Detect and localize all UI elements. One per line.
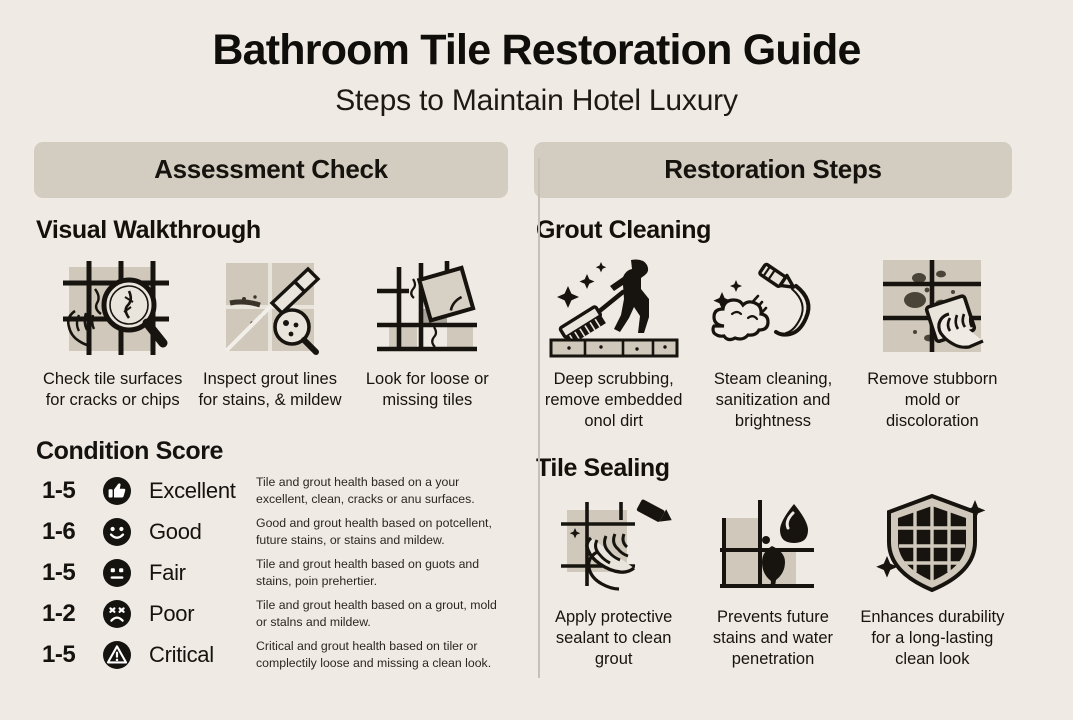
score-row-critical: 1-5 Critical Critical and grout health b… bbox=[34, 634, 506, 675]
assessment-check-column: Assessment Check Visual Walkthrough bbox=[0, 142, 506, 675]
score-row-fair: 1-5 Fair Tile and grout health based on … bbox=[34, 552, 506, 593]
page-subtitle: Steps to Maintain Hotel Luxury bbox=[0, 84, 1073, 118]
assessment-check-pill: Assessment Check bbox=[34, 142, 508, 198]
condition-score-table: 1-5 Excellent Tile and grout health base… bbox=[34, 470, 506, 675]
grout-cleaning-heading: Grout Cleaning bbox=[536, 216, 1012, 245]
card-check-tile-surfaces: Check tile surfaces for cracks or chips bbox=[34, 251, 191, 411]
card-caption: Apply protective sealant to clean grout bbox=[534, 601, 693, 670]
card-caption: Check tile surfaces for cracks or chips bbox=[34, 363, 191, 411]
card-caption: Deep scrubbing, remove embedded onol dir… bbox=[534, 363, 693, 432]
score-range: 1-5 bbox=[34, 477, 96, 505]
sealant-hand-wipe-icon bbox=[534, 489, 693, 601]
grout-cleaning-cards: Deep scrubbing, remove embedded onol dir… bbox=[534, 251, 1012, 432]
score-label: Fair bbox=[138, 560, 256, 586]
card-caption: Enhances durability for a long-lasting c… bbox=[853, 601, 1012, 670]
restoration-steps-column: Restoration Steps Grout Cleaning bbox=[506, 142, 1012, 675]
shield-tile-icon bbox=[853, 489, 1012, 601]
card-enhances-durability: Enhances durability for a long-lasting c… bbox=[853, 489, 1012, 670]
tile-sealing-heading: Tile Sealing bbox=[536, 454, 1012, 483]
score-label: Critical bbox=[138, 642, 256, 668]
score-range: 1-6 bbox=[34, 518, 96, 546]
page-title: Bathroom Tile Restoration Guide bbox=[0, 28, 1073, 73]
score-label: Good bbox=[138, 519, 256, 545]
tile-sealing-cards: Apply protective sealant to clean grout bbox=[534, 489, 1012, 670]
content-columns: Assessment Check Visual Walkthrough bbox=[0, 142, 1073, 675]
restoration-steps-pill: Restoration Steps bbox=[534, 142, 1012, 198]
condition-score-heading: Condition Score bbox=[36, 437, 506, 466]
card-apply-sealant: Apply protective sealant to clean grout bbox=[534, 489, 693, 670]
score-description: Tile and grout health based on guots and… bbox=[256, 556, 506, 589]
score-row-good: 1-6 Good Good and grout health based on … bbox=[34, 511, 506, 552]
warning-triangle-icon bbox=[96, 640, 138, 670]
card-caption: Look for loose or missing tiles bbox=[349, 363, 506, 411]
grout-inspection-magnifier-icon bbox=[191, 251, 348, 363]
card-steam-cleaning: Steam cleaning, sanitization and brightn… bbox=[693, 251, 852, 432]
mold-wipe-tile-icon bbox=[853, 251, 1012, 363]
score-label: Poor bbox=[138, 601, 256, 627]
score-range: 1-5 bbox=[34, 641, 96, 669]
steam-cleaner-icon bbox=[693, 251, 852, 363]
score-description: Tile and grout health based on a your ex… bbox=[256, 474, 506, 507]
column-divider bbox=[538, 158, 540, 678]
card-loose-missing-tiles: Look for loose or missing tiles bbox=[349, 251, 506, 411]
frowning-face-icon bbox=[96, 599, 138, 629]
card-remove-mold: Remove stubborn mold or discoloration bbox=[853, 251, 1012, 432]
score-row-excellent: 1-5 Excellent Tile and grout health base… bbox=[34, 470, 506, 511]
neutral-face-icon bbox=[96, 558, 138, 588]
score-description: Good and grout health based on potcellen… bbox=[256, 515, 506, 548]
score-description: Tile and grout health based on a grout, … bbox=[256, 597, 506, 630]
score-label: Excellent bbox=[138, 478, 256, 504]
loose-tile-icon bbox=[349, 251, 506, 363]
visual-walkthrough-cards: Check tile surfaces for cracks or chips bbox=[34, 251, 506, 411]
card-caption: Inspect grout lines for stains, & mildew bbox=[191, 363, 348, 411]
score-description: Critical and grout health based on tiler… bbox=[256, 638, 506, 671]
score-range: 1-5 bbox=[34, 559, 96, 587]
score-row-poor: 1-2 Poor Tile and grout health based on … bbox=[34, 593, 506, 634]
smiley-face-icon bbox=[96, 517, 138, 547]
card-caption: Steam cleaning, sanitization and brightn… bbox=[693, 363, 852, 432]
score-range: 1-2 bbox=[34, 600, 96, 628]
card-deep-scrubbing: Deep scrubbing, remove embedded onol dir… bbox=[534, 251, 693, 432]
thumbs-up-icon bbox=[96, 476, 138, 506]
card-caption: Prevents future stains and water penetra… bbox=[693, 601, 852, 670]
visual-walkthrough-heading: Visual Walkthrough bbox=[36, 216, 506, 245]
page-header: Bathroom Tile Restoration Guide Steps to… bbox=[0, 0, 1073, 118]
water-droplet-tile-icon bbox=[693, 489, 852, 601]
tile-crack-magnifier-icon bbox=[34, 251, 191, 363]
card-prevents-stains: Prevents future stains and water penetra… bbox=[693, 489, 852, 670]
person-scrubbing-floor-icon bbox=[534, 251, 693, 363]
card-inspect-grout-lines: Inspect grout lines for stains, & mildew bbox=[191, 251, 348, 411]
card-caption: Remove stubborn mold or discoloration bbox=[853, 363, 1012, 432]
